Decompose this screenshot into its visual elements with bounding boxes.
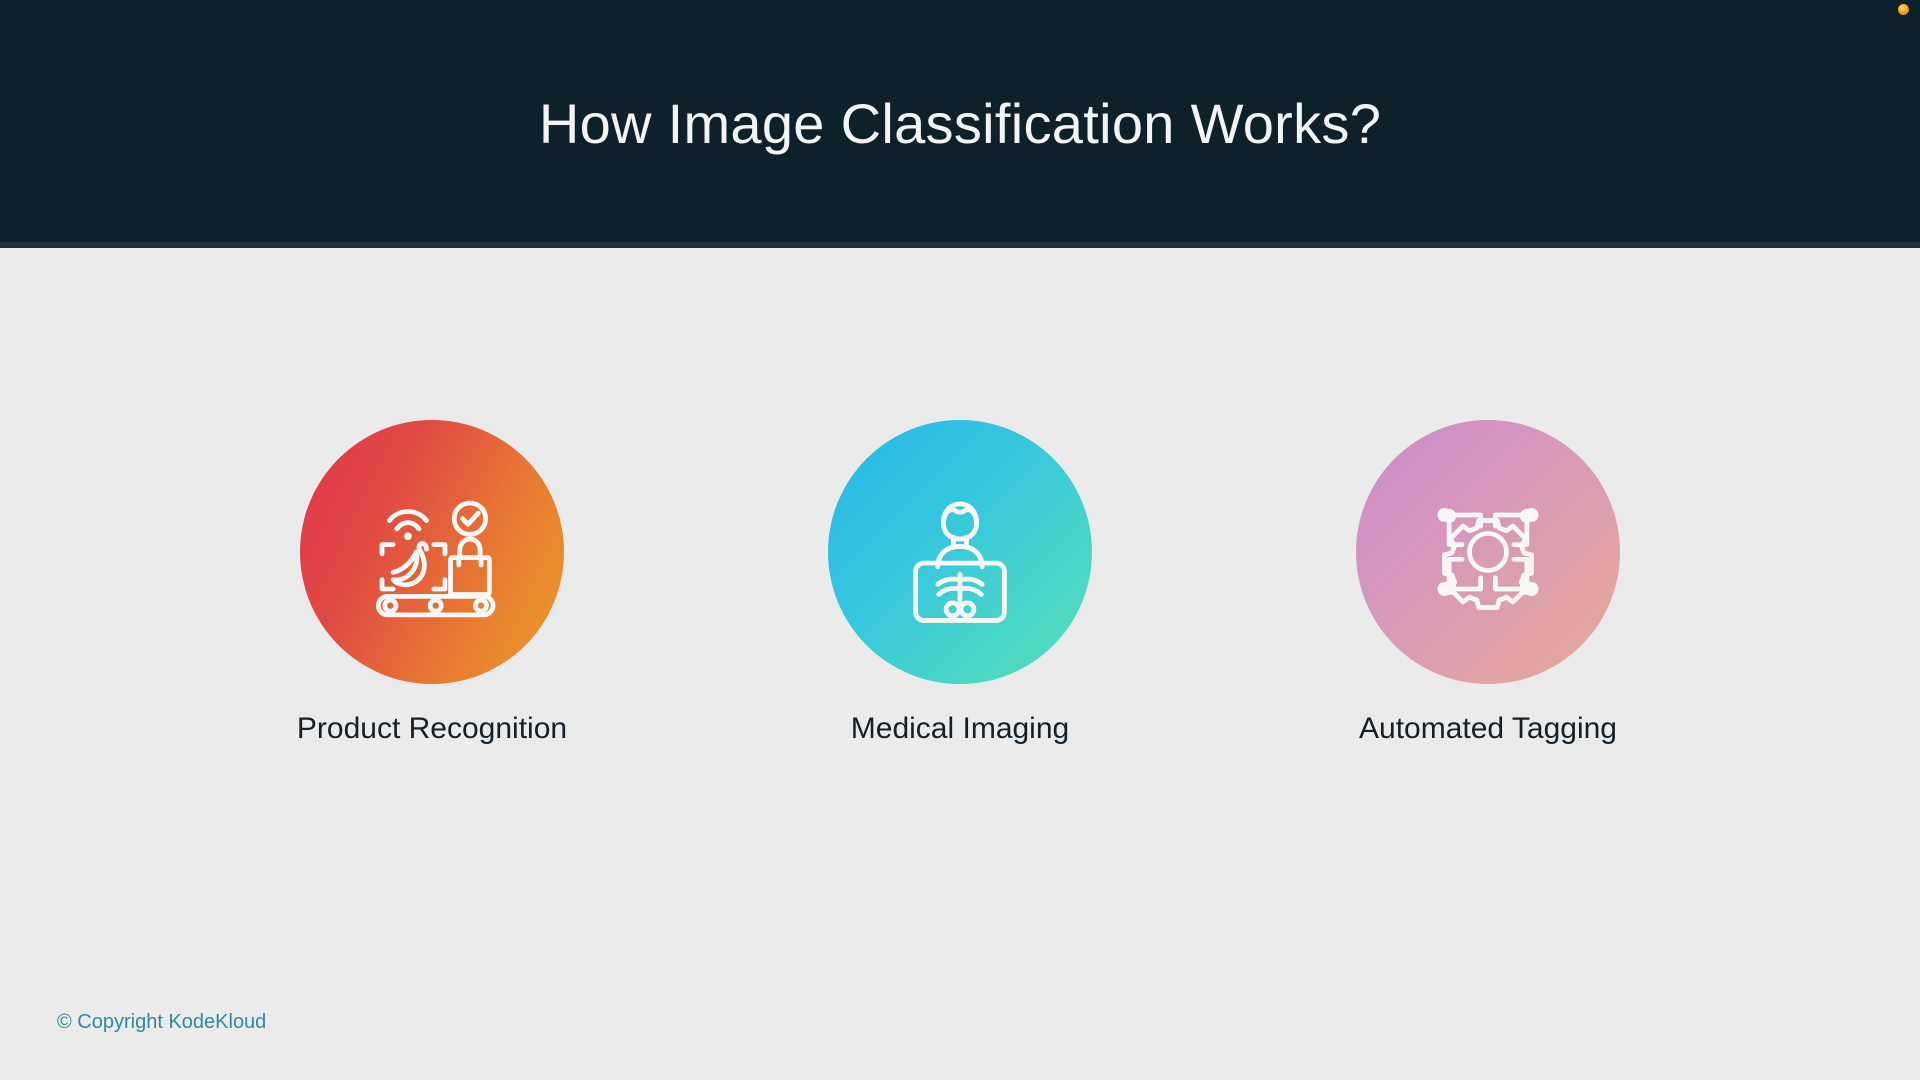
feature-card-product-recognition[interactable]: Product Recognition xyxy=(300,420,564,744)
feature-card-label: Medical Imaging xyxy=(851,714,1069,744)
feature-card-label: Product Recognition xyxy=(297,714,567,744)
feature-card-automated-tagging[interactable]: Automated Tagging xyxy=(1356,420,1620,744)
feature-cards-row: Product Recognition xyxy=(0,420,1920,744)
feature-card-label: Automated Tagging xyxy=(1359,714,1617,744)
icon-circle-medical-imaging xyxy=(828,420,1092,684)
slide-canvas: How Image Classification Works? xyxy=(0,0,1920,1080)
copyright-notice: © Copyright KodeKloud xyxy=(57,1012,266,1032)
product-scanner-conveyor-icon xyxy=(358,478,506,626)
icon-circle-automated-tagging xyxy=(1356,420,1620,684)
recording-dot-icon xyxy=(1898,4,1909,15)
page-title: How Image Classification Works? xyxy=(539,96,1381,152)
header-underline-divider xyxy=(0,242,1920,248)
feature-card-medical-imaging[interactable]: Medical Imaging xyxy=(828,420,1092,744)
gear-circuit-nodes-icon xyxy=(1414,478,1562,626)
slide-header: How Image Classification Works? xyxy=(0,0,1920,248)
xray-patient-icon xyxy=(886,478,1034,626)
icon-circle-product-recognition xyxy=(300,420,564,684)
